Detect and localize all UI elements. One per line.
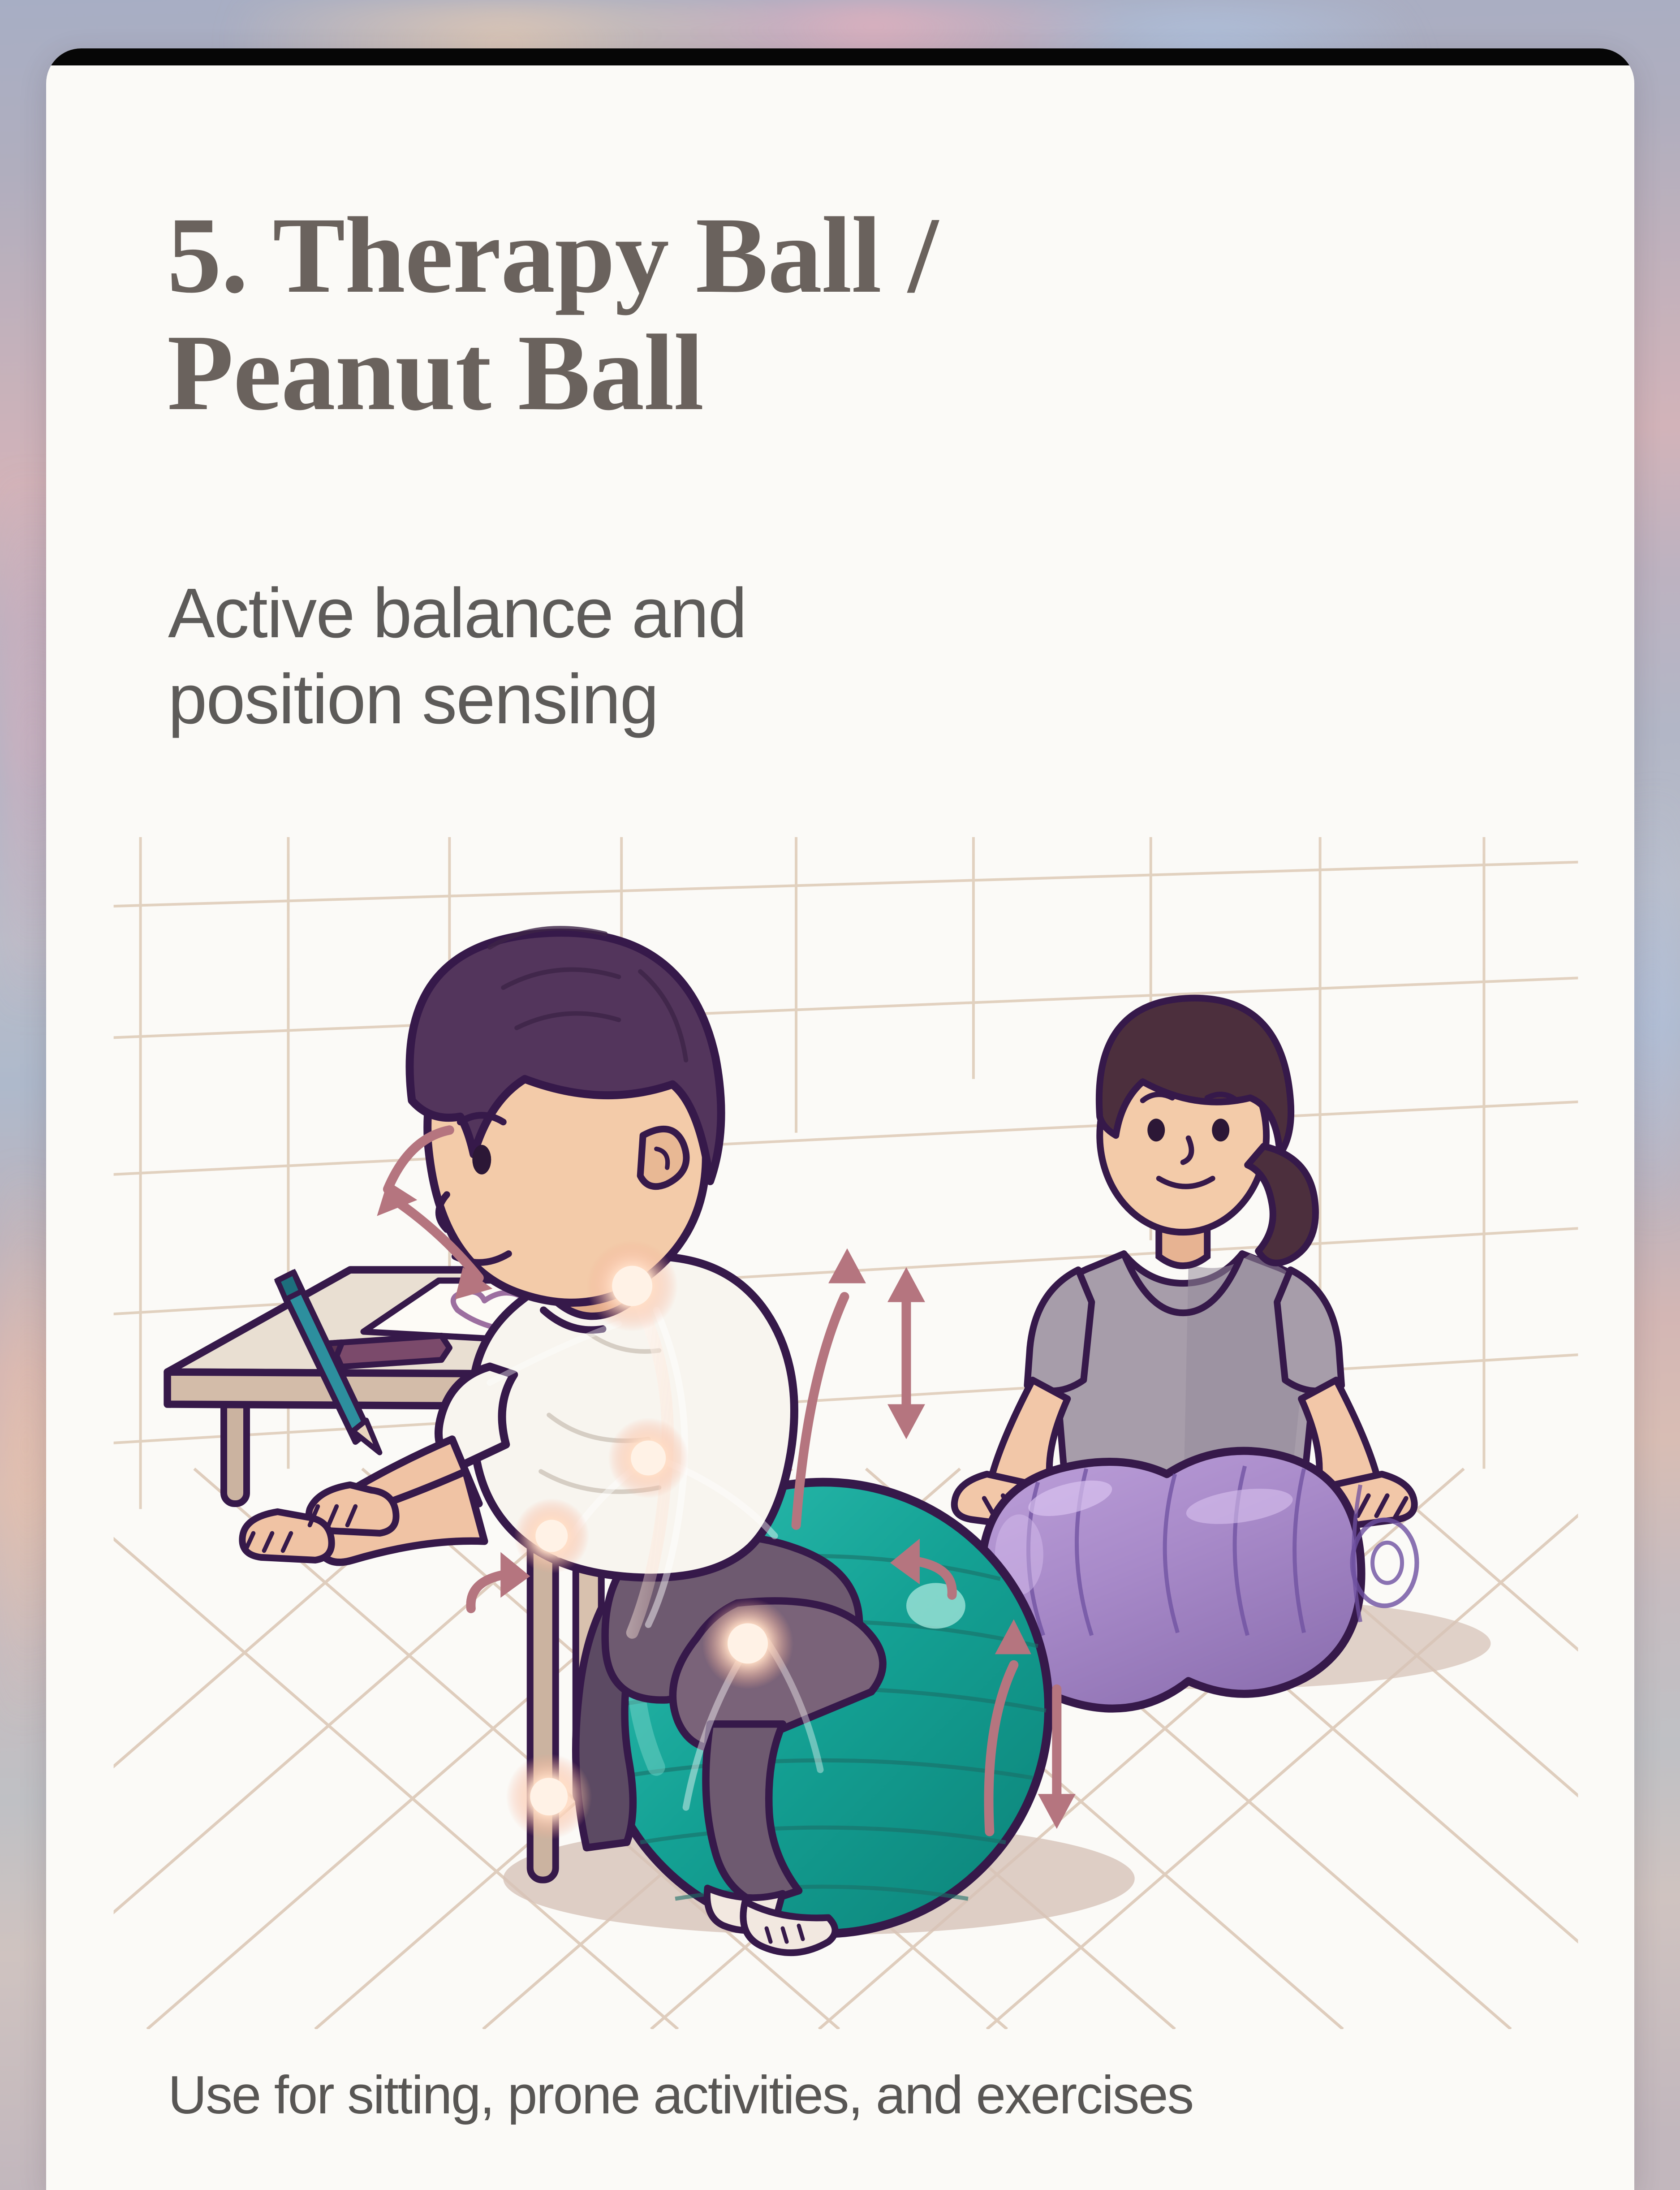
card-footer-note: Use for sitting, prone activities, and e… (168, 2064, 1602, 2126)
card-top-bar (46, 48, 1634, 65)
page-subtitle: Active balance and position sensing (168, 570, 1243, 742)
info-card: 5. Therapy Ball / Peanut Ball Active bal… (46, 48, 1634, 2190)
therapy-ball-illustration (113, 837, 1578, 2029)
page-title: 5. Therapy Ball / Peanut Ball (167, 196, 1377, 432)
